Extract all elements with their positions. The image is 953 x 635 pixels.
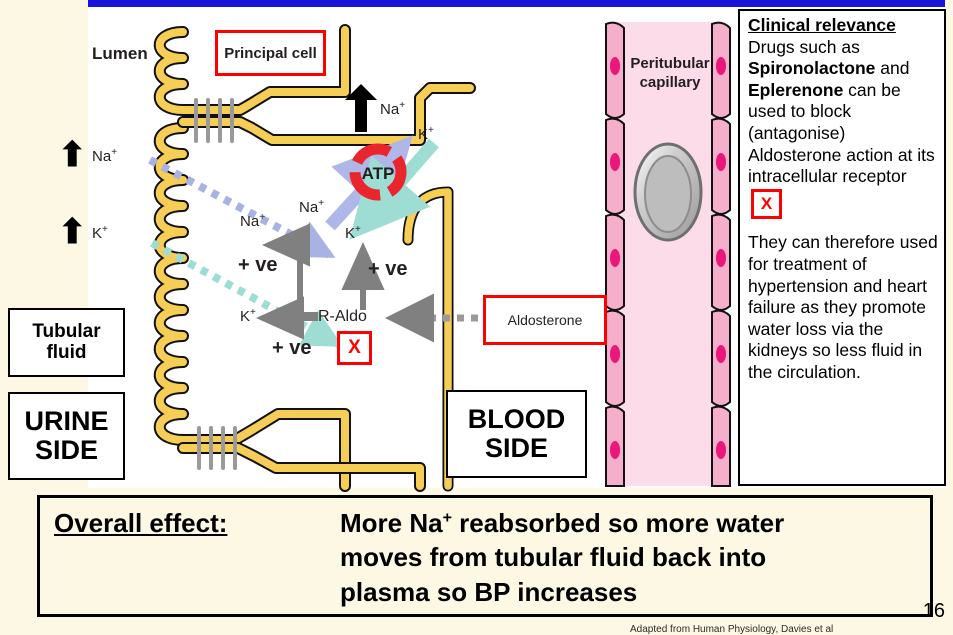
positive-effect-k-channel: + ve: [272, 337, 311, 360]
urine-k-up-arrow: ⬆: [58, 215, 87, 249]
positive-effect-k-secretion: + ve: [368, 258, 407, 281]
clinical-relevance-heading: Clinical relevance: [748, 15, 938, 37]
clinical-block-marker: X: [751, 189, 782, 219]
source-credit: Adapted from Human Physiology, Davies et…: [630, 624, 833, 635]
pump-k-in-label: K+: [418, 125, 434, 143]
positive-effect-na: + ve: [238, 254, 277, 277]
clinical-relevance-box: Clinical relevance Drugs such as Spirono…: [738, 9, 946, 486]
tubular-fluid-label-box: Tubular fluid: [8, 308, 125, 377]
aldosterone-callout: Aldosterone: [483, 295, 607, 345]
basolateral-na-label: Na+: [240, 212, 265, 230]
apical-na-label: Na+: [380, 100, 405, 118]
urine-k-label: K+: [92, 224, 108, 242]
clinical-relevance-paragraph-1: Drugs such as Spironolactone and Epleren…: [748, 37, 938, 220]
urine-side-label-box: URINE SIDE: [8, 392, 125, 480]
overall-effect-title: Overall effect:: [54, 508, 227, 539]
urine-na-up-arrow: ⬆: [58, 138, 87, 172]
lumen-label: Lumen: [92, 44, 148, 64]
apical-k-secretion-label: K+: [240, 307, 256, 325]
page-number: 16: [923, 600, 945, 623]
pump-k-out-label: K+: [345, 224, 361, 242]
peritubular-capillary-label: Peritubular capillary: [625, 55, 715, 93]
principal-cell-callout: Principal cell: [215, 30, 326, 76]
urine-side-line2: SIDE: [35, 436, 98, 465]
tubular-fluid-line2: fluid: [46, 343, 86, 364]
blood-side-line1: BLOOD: [468, 405, 566, 434]
urine-side-line1: URINE: [24, 407, 108, 436]
receptor-block-marker: X: [337, 331, 372, 365]
pump-na-in-label: Na+: [299, 198, 324, 216]
r-aldo-label: R-Aldo: [318, 308, 367, 326]
clinical-relevance-paragraph-2: They can therefore used for treatment of…: [748, 232, 938, 383]
top-accent-bar: [88, 0, 945, 7]
tubular-fluid-line1: Tubular: [32, 322, 100, 343]
blood-side-line2: SIDE: [485, 434, 548, 463]
urine-na-label: Na+: [92, 147, 117, 165]
overall-effect-box: Overall effect: More Na+ reabsorbed so m…: [37, 495, 933, 617]
blood-side-label-box: BLOOD SIDE: [446, 390, 587, 478]
overall-effect-text: More Na+ reabsorbed so more water moves …: [340, 506, 920, 609]
